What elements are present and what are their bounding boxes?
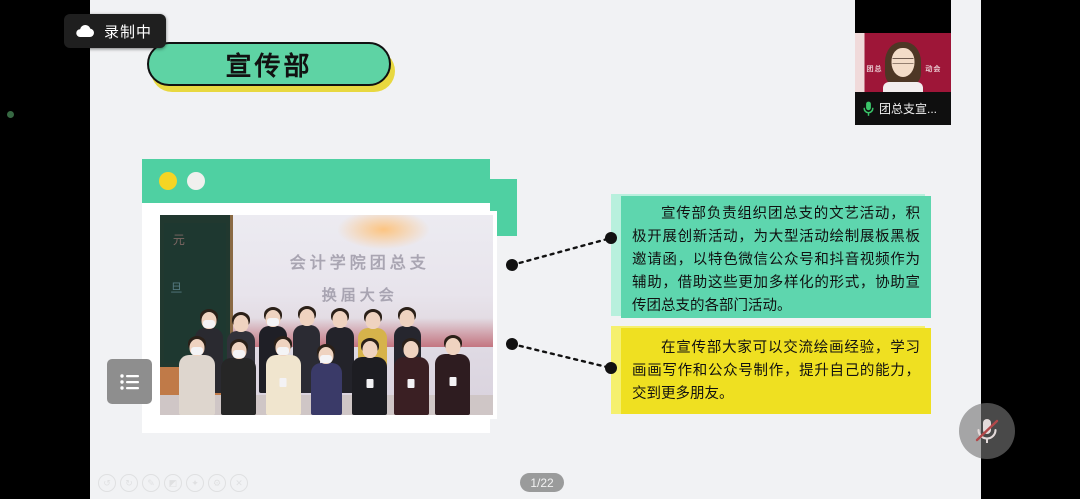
recording-label: 录制中	[104, 21, 152, 42]
microphone-icon	[863, 101, 874, 117]
video-frame: 团总 动会	[855, 33, 951, 92]
mic-muted-icon	[972, 415, 1002, 447]
group-photo: 会计学院团总支 换届大会 元 旦	[160, 215, 493, 415]
backdrop-text-right: 动会	[925, 64, 941, 74]
lanyard-badge	[280, 378, 287, 387]
participant-name: 团总支宣...	[879, 100, 937, 117]
person	[352, 357, 387, 415]
page-title: 宣传部	[225, 46, 312, 83]
person	[311, 363, 343, 415]
undo-icon[interactable]: ↺	[98, 474, 116, 492]
settings-icon[interactable]: ⚙	[208, 474, 226, 492]
lanyard-badge	[449, 377, 456, 386]
slide-title-pill: 宣传部	[147, 42, 391, 86]
yellow-callout-text: 在宣传部大家可以交流绘画经验，学习画画写作和公众号制作，提升自己的能力，交到更多…	[632, 337, 920, 406]
head	[233, 315, 248, 332]
mask	[203, 320, 215, 328]
lanyard-badge	[408, 379, 415, 388]
participant-video-tile[interactable]: 团总 动会 团总支宣...	[855, 0, 951, 125]
mask	[277, 347, 289, 355]
mask	[320, 355, 332, 363]
green-callout-text: 宣传部负责组织团总支的文艺活动，积极开展创新活动，为大型活动绘制展板黑板邀请函，…	[632, 203, 920, 318]
recording-badge[interactable]: 录制中	[64, 14, 166, 48]
close-icon[interactable]: ✕	[230, 474, 248, 492]
head	[299, 309, 314, 326]
redo-icon[interactable]: ↻	[120, 474, 138, 492]
highlighter-icon[interactable]: ✦	[186, 474, 204, 492]
participant-namebar: 团总支宣...	[855, 92, 951, 125]
mask	[191, 347, 203, 355]
head	[400, 310, 415, 327]
body	[883, 82, 923, 92]
person	[221, 358, 256, 415]
slide-canvas: 宣传部 会计学院团总支 换届大会	[90, 0, 981, 499]
lanyard-badge	[366, 379, 373, 388]
slide-title-group: 宣传部	[147, 42, 395, 92]
photo-window-card: 会计学院团总支 换届大会 元 旦	[142, 159, 517, 433]
mask	[233, 350, 245, 358]
glasses	[893, 58, 914, 64]
pen-icon[interactable]: ✎	[142, 474, 160, 492]
people-group	[167, 291, 487, 415]
mask	[267, 318, 279, 326]
yellow-dot-icon	[159, 172, 177, 190]
eraser-icon[interactable]: ◩	[164, 474, 182, 492]
screen-title-line1: 会计学院团总支	[227, 249, 493, 273]
window-chrome-titlebar	[142, 159, 490, 203]
person	[179, 355, 214, 415]
green-callout: 宣传部负责组织团总支的文艺活动，积极开展创新活动，为大型活动绘制展板黑板邀请函，…	[621, 196, 931, 318]
person	[266, 355, 301, 415]
page-indicator-text: 1/22	[530, 476, 553, 490]
head	[333, 311, 348, 328]
yellow-callout: 在宣传部大家可以交流绘画经验，学习画画写作和公众号制作，提升自己的能力，交到更多…	[621, 328, 931, 414]
slide-annotation-toolbar[interactable]: ↺ ↻ ✎ ◩ ✦ ⚙ ✕	[98, 474, 248, 492]
shared-slide-stage[interactable]: 宣传部 会计学院团总支 换届大会	[90, 0, 981, 499]
head	[365, 312, 380, 329]
mute-toggle-button[interactable]	[959, 403, 1015, 459]
head	[404, 341, 419, 358]
status-dot	[7, 111, 14, 118]
page-indicator: 1/22	[520, 473, 564, 492]
meeting-screen-share-view: 宣传部 会计学院团总支 换届大会	[0, 0, 1080, 499]
slide-list-button[interactable]	[107, 359, 152, 404]
participant-avatar	[882, 42, 924, 92]
head	[445, 338, 460, 355]
backdrop-text-left: 团总	[867, 64, 883, 74]
screen-glow	[338, 215, 429, 249]
head	[362, 341, 377, 358]
cloud-icon	[75, 24, 95, 38]
person	[435, 354, 470, 415]
chalk-text-1: 元	[173, 231, 185, 248]
white-dot-icon	[187, 172, 205, 190]
list-icon	[119, 373, 141, 391]
person	[394, 357, 429, 415]
group-photo-frame: 会计学院团总支 换届大会 元 旦	[156, 211, 497, 419]
